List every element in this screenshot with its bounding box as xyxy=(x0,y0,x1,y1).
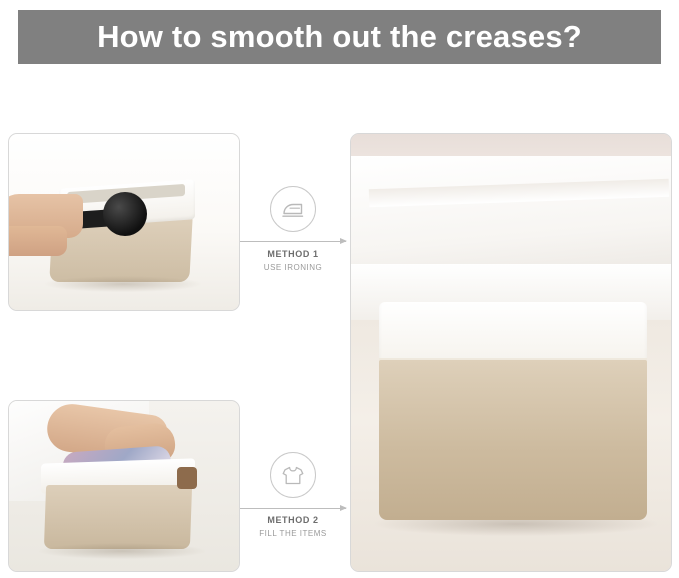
method-1-sub: USE IRONING xyxy=(240,262,346,274)
method-2-label: METHOD 2 xyxy=(240,514,346,527)
basket-shadow xyxy=(39,543,205,559)
photo-basket-beside-bed xyxy=(350,133,672,572)
method-1-block: METHOD 1 USE IRONING xyxy=(240,186,346,274)
header-banner: How to smooth out the creases? xyxy=(18,10,661,64)
arrow-right-icon-1 xyxy=(240,241,346,242)
method-1-label: METHOD 1 xyxy=(240,248,346,261)
page-title: How to smooth out the creases? xyxy=(97,19,582,55)
basket-body xyxy=(44,485,192,549)
method-2-sub: FILL THE ITEMS xyxy=(240,528,346,540)
arrow-right-icon-2 xyxy=(240,508,346,509)
bed-duvet xyxy=(351,156,671,276)
basket-handle xyxy=(177,467,197,489)
photo-ironing-basket xyxy=(8,133,240,311)
method-2-block: METHOD 2 FILL THE ITEMS xyxy=(240,452,346,540)
iron-handle xyxy=(103,192,147,236)
photo-filling-basket xyxy=(8,400,240,572)
basket-shadow xyxy=(45,276,201,292)
basket-body xyxy=(379,360,647,520)
tshirt-icon xyxy=(270,452,316,498)
hand-forearm xyxy=(8,226,67,256)
iron-icon xyxy=(270,186,316,232)
